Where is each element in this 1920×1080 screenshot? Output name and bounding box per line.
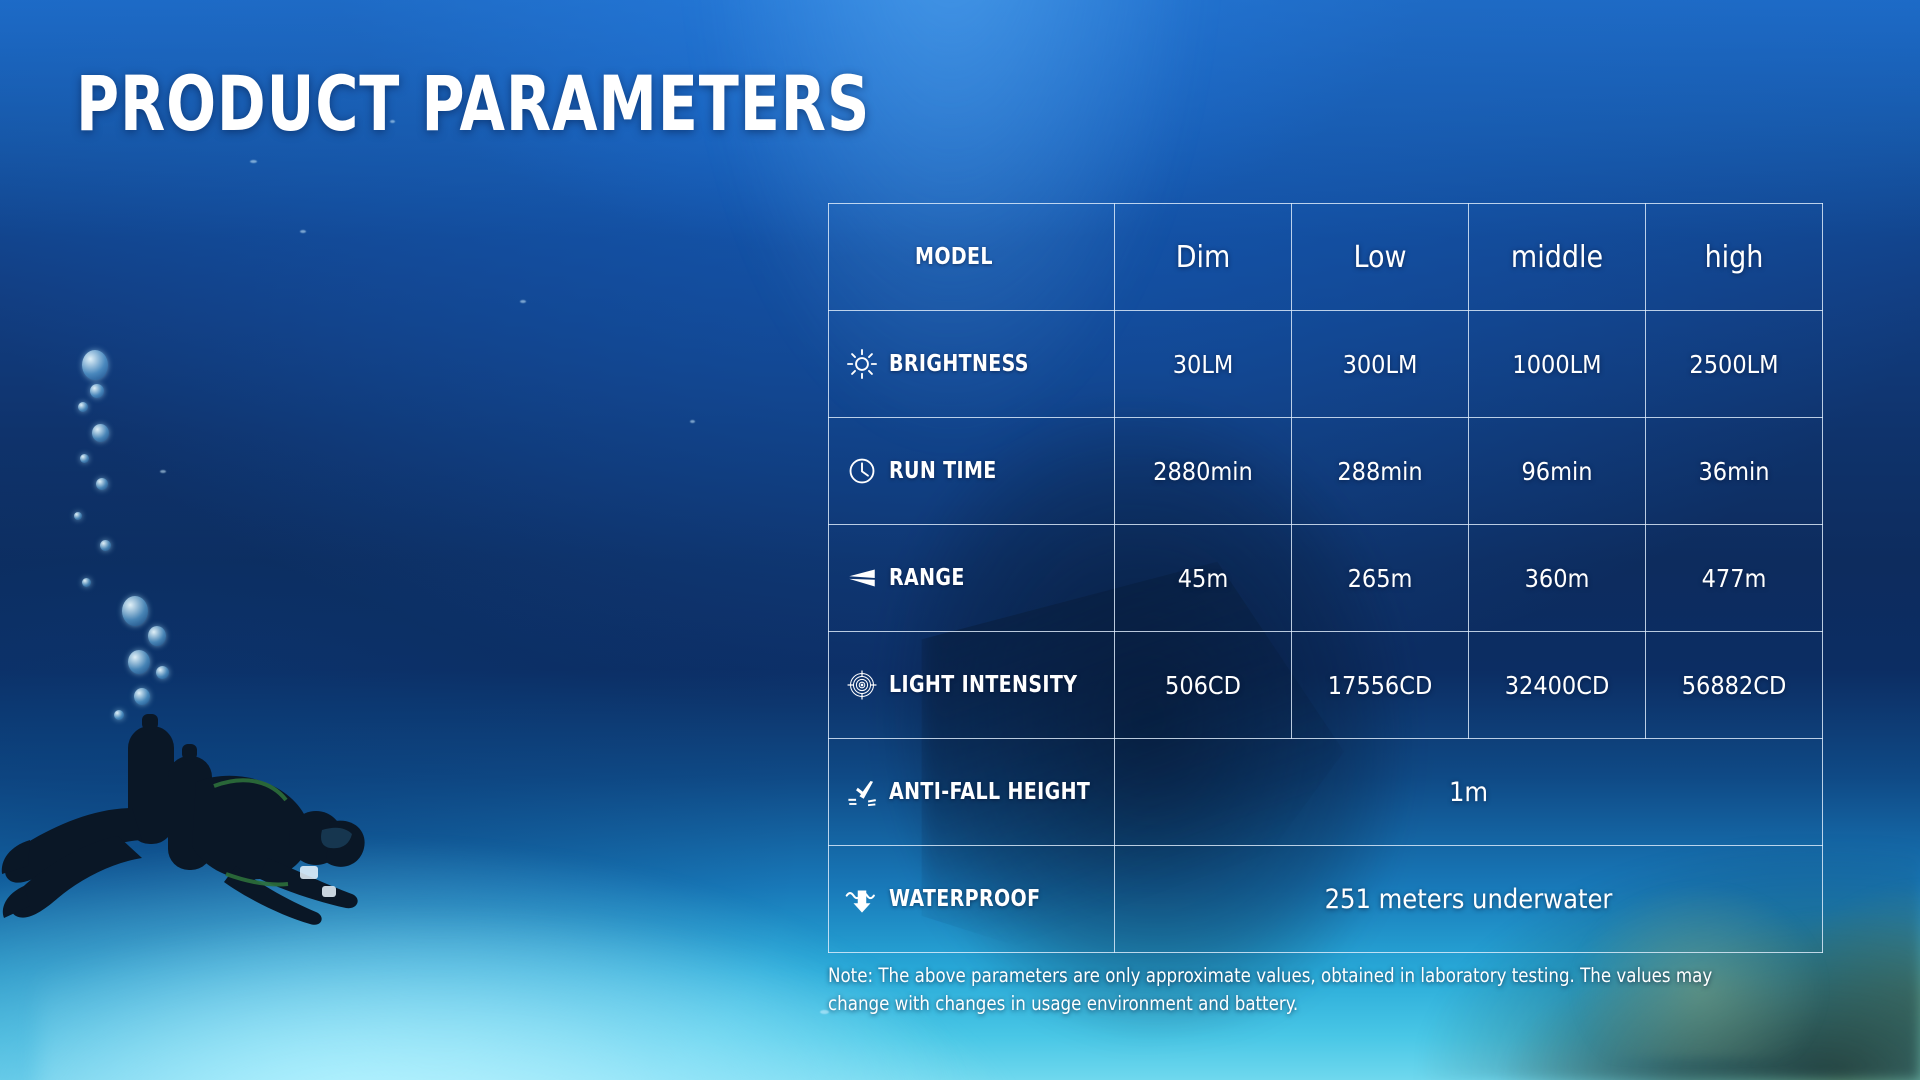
cell-brightness-middle: 1000LM (1469, 311, 1646, 418)
cell-runtime-high: 36min (1646, 418, 1823, 525)
row-label-text: BRIGHTNESS (889, 351, 1029, 377)
cell-brightness-dim: 30LM (1115, 311, 1292, 418)
cell-value: 45m (1178, 564, 1229, 593)
cell-brightness-high: 2500LM (1646, 311, 1823, 418)
fish-dot (690, 420, 695, 423)
row-label-run-time: RUN TIME (829, 418, 1115, 525)
row-label-light-intensity: LIGHT INTENSITY (829, 632, 1115, 739)
row-label-text: ANTI-FALL HEIGHT (889, 779, 1090, 805)
fish-dot (520, 300, 526, 303)
table-row: WATERPROOF 251 meters underwater (829, 846, 1823, 953)
cell-value: 56882CD (1682, 671, 1787, 700)
parameters-table: MODEL Dim Low middle high (828, 203, 1823, 953)
cell-range-dim: 45m (1115, 525, 1292, 632)
cell-value: 360m (1525, 564, 1590, 593)
row-label-text: WATERPROOF (889, 886, 1040, 912)
header-cell-high: high (1646, 204, 1823, 311)
header-label-middle: middle (1511, 240, 1603, 275)
cell-value: 288min (1337, 457, 1422, 486)
scuba-diver-silhouette (0, 690, 420, 940)
cell-value: 36min (1698, 457, 1769, 486)
cell-intensity-dim: 506CD (1115, 632, 1292, 739)
header-cell-middle: middle (1469, 204, 1646, 311)
page-title: PRODUCT PARAMETERS (76, 66, 870, 142)
row-label-text: LIGHT INTENSITY (889, 672, 1077, 698)
cell-value: 1m (1449, 777, 1488, 808)
cell-value: 30LM (1173, 350, 1234, 379)
cell-range-low: 265m (1292, 525, 1469, 632)
beam-icon (845, 561, 879, 595)
header-cell-model: MODEL (829, 204, 1115, 311)
cell-range-middle: 360m (1469, 525, 1646, 632)
table-row: ANTI-FALL HEIGHT 1m (829, 739, 1823, 846)
table-row: LIGHT INTENSITY 506CD 17556CD 32400CD 56… (829, 632, 1823, 739)
cell-value: 477m (1702, 564, 1767, 593)
cell-value: 506CD (1165, 671, 1241, 700)
clock-icon (845, 454, 879, 488)
header-label-low: Low (1353, 240, 1406, 275)
waterproof-icon (845, 882, 879, 916)
table-row: RUN TIME 2880min 288min 96min 36min (829, 418, 1823, 525)
table-row: BRIGHTNESS 30LM 300LM 1000LM 2500LM (829, 311, 1823, 418)
cell-intensity-high: 56882CD (1646, 632, 1823, 739)
cell-brightness-low: 300LM (1292, 311, 1469, 418)
target-icon (845, 668, 879, 702)
cell-runtime-middle: 96min (1469, 418, 1646, 525)
fish-dot (300, 230, 306, 233)
cell-value: 251 meters underwater (1325, 884, 1613, 915)
product-parameters-table: MODEL Dim Low middle high (828, 203, 1822, 953)
drop-impact-icon (845, 775, 879, 809)
table-row: RANGE 45m 265m 360m 477m (829, 525, 1823, 632)
row-label-waterproof: WATERPROOF (829, 846, 1115, 953)
row-label-anti-fall-height: ANTI-FALL HEIGHT (829, 739, 1115, 846)
row-label-text: RUN TIME (889, 458, 997, 484)
cell-runtime-low: 288min (1292, 418, 1469, 525)
row-label-brightness: BRIGHTNESS (829, 311, 1115, 418)
disclaimer-note: Note: The above parameters are only appr… (828, 962, 1769, 1019)
row-label-range: RANGE (829, 525, 1115, 632)
header-label-high: high (1705, 240, 1764, 275)
cell-value: 300LM (1343, 350, 1418, 379)
fish-dot (250, 160, 257, 163)
cell-value: 1000LM (1512, 350, 1601, 379)
cell-value: 265m (1348, 564, 1413, 593)
sun-icon (845, 347, 879, 381)
cell-range-high: 477m (1646, 525, 1823, 632)
header-cell-low: Low (1292, 204, 1469, 311)
header-label-dim: Dim (1176, 240, 1231, 275)
cell-value: 2880min (1153, 457, 1253, 486)
cell-intensity-low: 17556CD (1292, 632, 1469, 739)
cell-waterproof-value: 251 meters underwater (1115, 846, 1823, 953)
cell-runtime-dim: 2880min (1115, 418, 1292, 525)
table-header-row: MODEL Dim Low middle high (829, 204, 1823, 311)
header-label-model: MODEL (915, 244, 993, 270)
cell-value: 32400CD (1505, 671, 1610, 700)
cell-value: 96min (1521, 457, 1592, 486)
cell-intensity-middle: 32400CD (1469, 632, 1646, 739)
row-label-text: RANGE (889, 565, 965, 591)
header-cell-dim: Dim (1115, 204, 1292, 311)
cell-anti-fall-value: 1m (1115, 739, 1823, 846)
cell-value: 2500LM (1689, 350, 1778, 379)
cell-value: 17556CD (1328, 671, 1433, 700)
